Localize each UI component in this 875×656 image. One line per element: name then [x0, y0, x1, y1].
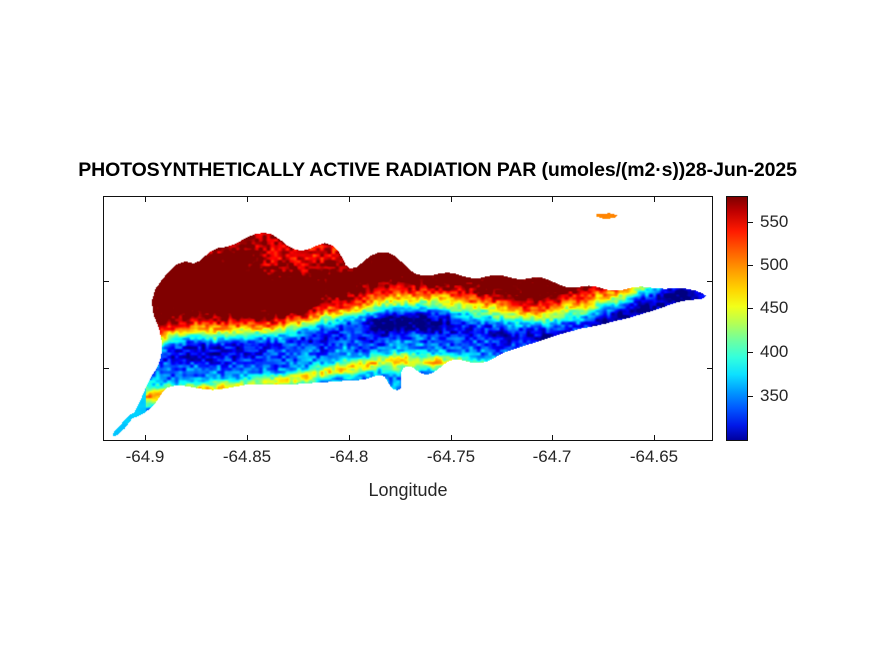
colorbar-tick-550 [748, 222, 753, 223]
matlab-figure-canvas: PHOTOSYNTHETICALLY ACTIVE RADIATION PAR … [0, 0, 875, 656]
colorbar-label-500: 500 [760, 255, 788, 275]
colorbar-tick-450 [748, 308, 753, 309]
colorbar [726, 196, 748, 441]
x-axis-title: Longitude [103, 480, 713, 501]
colorbar-label-450: 450 [760, 298, 788, 318]
colorbar-label-350: 350 [760, 386, 788, 406]
colorbar-label-400: 400 [760, 342, 788, 362]
colorbar-tick-500 [748, 265, 753, 266]
colorbar-tick-400 [748, 352, 753, 353]
colorbar-tick-350 [748, 396, 753, 397]
colorbar-label-550: 550 [760, 212, 788, 232]
